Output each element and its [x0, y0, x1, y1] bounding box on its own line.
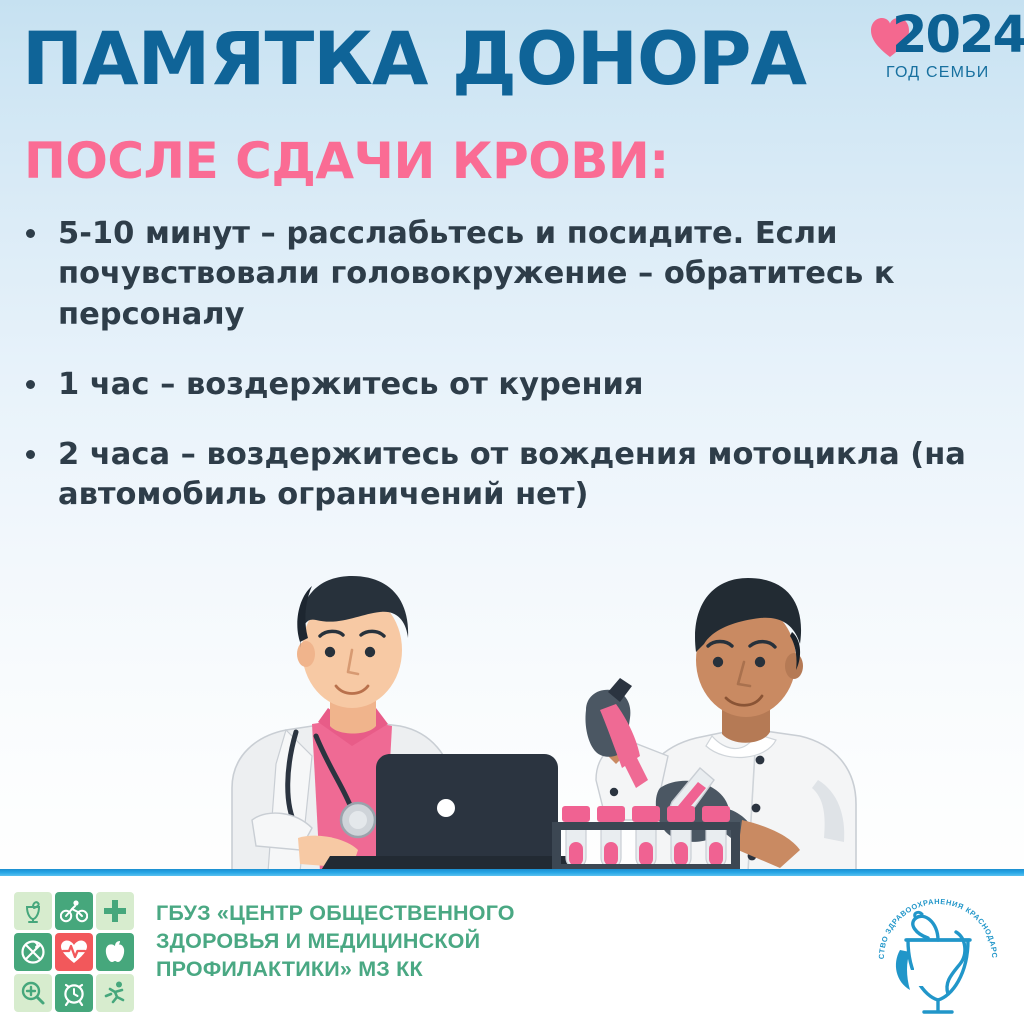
medical-cross-icon — [96, 892, 134, 930]
tip-lead: 5-10 минут — [58, 216, 250, 251]
magnifier-plus-icon — [14, 974, 52, 1012]
doctor-at-laptop — [232, 576, 590, 872]
bullet-icon — [26, 229, 35, 238]
tip-rest: – воздержитесь от вождения мотоцикла (на… — [58, 437, 966, 512]
tip-rest: – воздержитесь от курения — [149, 367, 643, 402]
page-title: ПАМЯТКА ДОНОРА — [22, 24, 806, 96]
year-logo-number: 2024 — [892, 10, 1024, 61]
alarm-clock-icon — [55, 974, 93, 1012]
tip-lead: 1 час — [58, 367, 149, 402]
list-item: 2 часа – воздержитесь от вождения мотоци… — [20, 435, 1010, 516]
illustration-svg — [0, 520, 1024, 872]
list-item: 1 час – воздержитесь от курения — [20, 365, 1010, 405]
bullet-icon — [26, 380, 35, 389]
no-smoking-icon — [14, 933, 52, 971]
tip-lead: 2 часа — [58, 437, 170, 472]
illustration — [0, 520, 1024, 872]
list-item: 5-10 минут – расслабьтесь и посидите. Ес… — [20, 214, 1010, 335]
apple-icon — [96, 933, 134, 971]
tips-list: 5-10 минут – расслабьтесь и посидите. Ес… — [20, 214, 1010, 516]
year-of-family-logo: 2024 ГОД СЕМЬИ — [866, 8, 1008, 92]
year-logo-row: 2024 — [866, 8, 1008, 66]
organization-name: ГБУЗ «ЦЕНТР ОБЩЕСТВЕННОГО ЗДОРОВЬЯ И МЕД… — [156, 900, 576, 984]
footer: ГБУЗ «ЦЕНТР ОБЩЕСТВЕННОГО ЗДОРОВЬЯ И МЕД… — [0, 876, 1024, 1024]
bowl-of-hygieia-icon — [896, 912, 970, 1012]
bowl-of-hygieia-icon — [14, 892, 52, 930]
bullet-icon — [26, 450, 35, 459]
section-divider — [0, 869, 1024, 876]
runner-icon — [96, 974, 134, 1012]
cyclist-icon — [55, 892, 93, 930]
test-tube-rack — [552, 806, 740, 872]
heart-pulse-icon — [55, 933, 93, 971]
health-icon-grid — [14, 892, 136, 1014]
page-subtitle: ПОСЛЕ СДАЧИ КРОВИ: — [24, 136, 669, 186]
year-logo-caption: ГОД СЕМЬИ — [886, 64, 990, 82]
donor-memo-poster: 2024 ГОД СЕМЬИ ПАМЯТКА ДОНОРА ПОСЛЕ СДАЧ… — [0, 0, 1024, 1024]
ministry-of-health-seal: МИНИСТЕРСТВО ЗДРАВООХРАНЕНИЯ КРАСНОДАРСК… — [862, 878, 1014, 1024]
